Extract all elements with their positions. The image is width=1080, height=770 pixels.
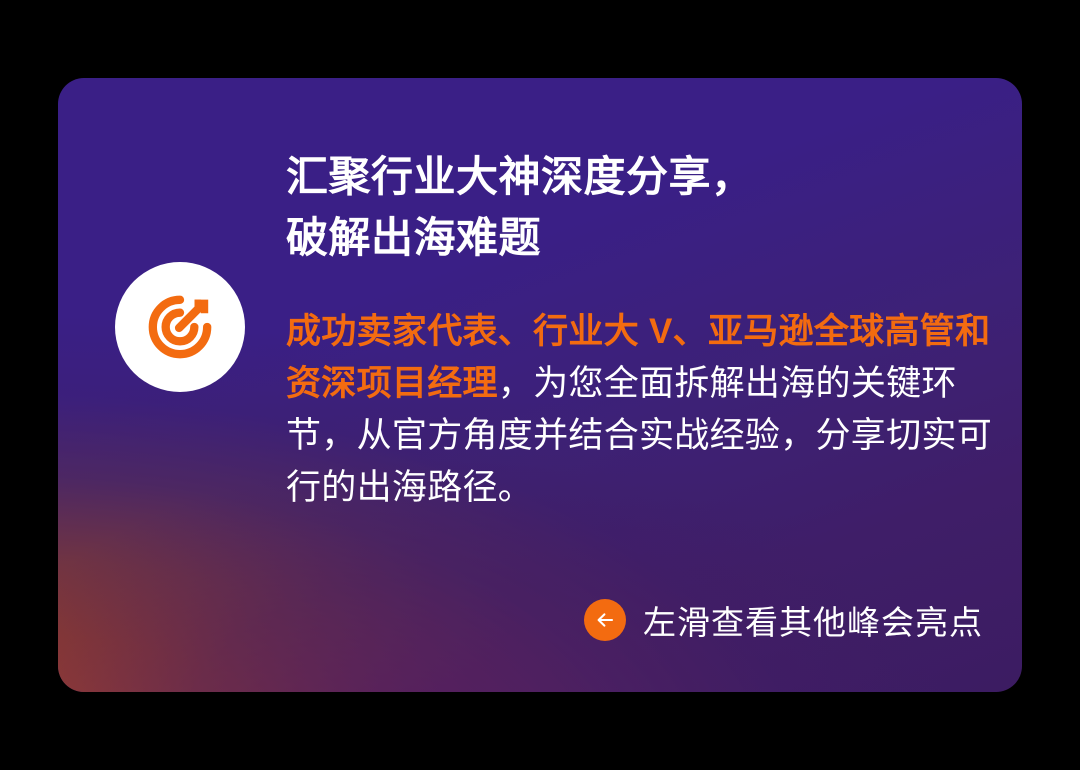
screenshot-stage: 汇聚行业大神深度分享， 破解出海难题 [0, 0, 1080, 770]
card-content: 汇聚行业大神深度分享， 破解出海难题 [58, 78, 1022, 692]
arrow-left-icon [593, 608, 617, 632]
swipe-cta-label: 左滑查看其他峰会亮点 [643, 596, 983, 644]
target-arrow-icon [143, 290, 217, 364]
icon-badge [115, 262, 245, 392]
swipe-left-button[interactable] [584, 599, 626, 641]
summit-highlight-card: 汇聚行业大神深度分享， 破解出海难题 [58, 78, 1022, 692]
card-headline: 汇聚行业大神深度分享， 破解出海难题 [286, 146, 976, 268]
card-body-copy: 成功卖家代表、行业大 V、亚马逊全球高管和资深项目经理，为您全面拆解出海的关键环… [286, 306, 992, 514]
swipe-cta[interactable]: 左滑查看其他峰会亮点 [584, 596, 983, 644]
